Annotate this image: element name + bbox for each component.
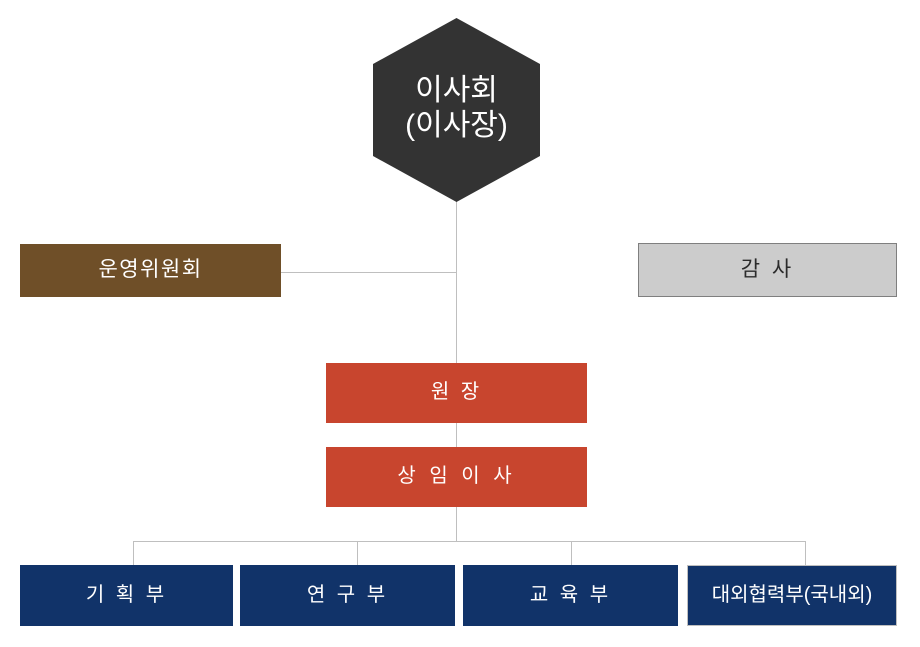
connector-drop-external — [805, 541, 806, 566]
connector-drop-planning — [133, 541, 134, 566]
node-director-label: 원 장 — [431, 381, 482, 405]
node-education-dept-label: 교 육 부 — [530, 584, 611, 608]
node-board[interactable]: 이사회 (이사장) — [373, 18, 540, 202]
node-executive-director[interactable]: 상 임 이 사 — [326, 447, 587, 507]
connector-board-spine-lower — [456, 272, 457, 364]
node-external-cooperation-dept-label: 대외협력부(국내외) — [712, 584, 873, 608]
node-board-label: 이사회 (이사장) — [405, 73, 508, 148]
node-director[interactable]: 원 장 — [326, 363, 587, 423]
node-steering-committee-label: 운영위원회 — [98, 258, 202, 283]
node-research-dept-label: 연 구 부 — [307, 584, 388, 608]
node-steering-committee[interactable]: 운영위원회 — [20, 244, 281, 297]
connector-board-spine-upper — [456, 196, 457, 273]
org-chart: 이사회 (이사장) 운영위원회 감 사 원 장 상 임 이 사 기 획 부 연 … — [0, 0, 920, 647]
connector-executive-to-bus — [456, 507, 457, 542]
connector-drop-education — [571, 541, 572, 566]
node-external-cooperation-dept[interactable]: 대외협력부(국내외) — [687, 565, 897, 626]
node-planning-dept-label: 기 획 부 — [86, 584, 167, 608]
node-auditor-label: 감 사 — [741, 258, 794, 283]
connector-board-to-steering-committee — [281, 272, 457, 273]
connector-drop-research — [357, 541, 358, 566]
node-education-dept[interactable]: 교 육 부 — [463, 565, 678, 626]
node-executive-director-label: 상 임 이 사 — [397, 465, 515, 489]
node-auditor[interactable]: 감 사 — [638, 243, 897, 297]
node-planning-dept[interactable]: 기 획 부 — [20, 565, 233, 626]
connector-director-to-executive — [456, 423, 457, 448]
connector-department-bus — [133, 541, 806, 542]
node-research-dept[interactable]: 연 구 부 — [240, 565, 455, 626]
